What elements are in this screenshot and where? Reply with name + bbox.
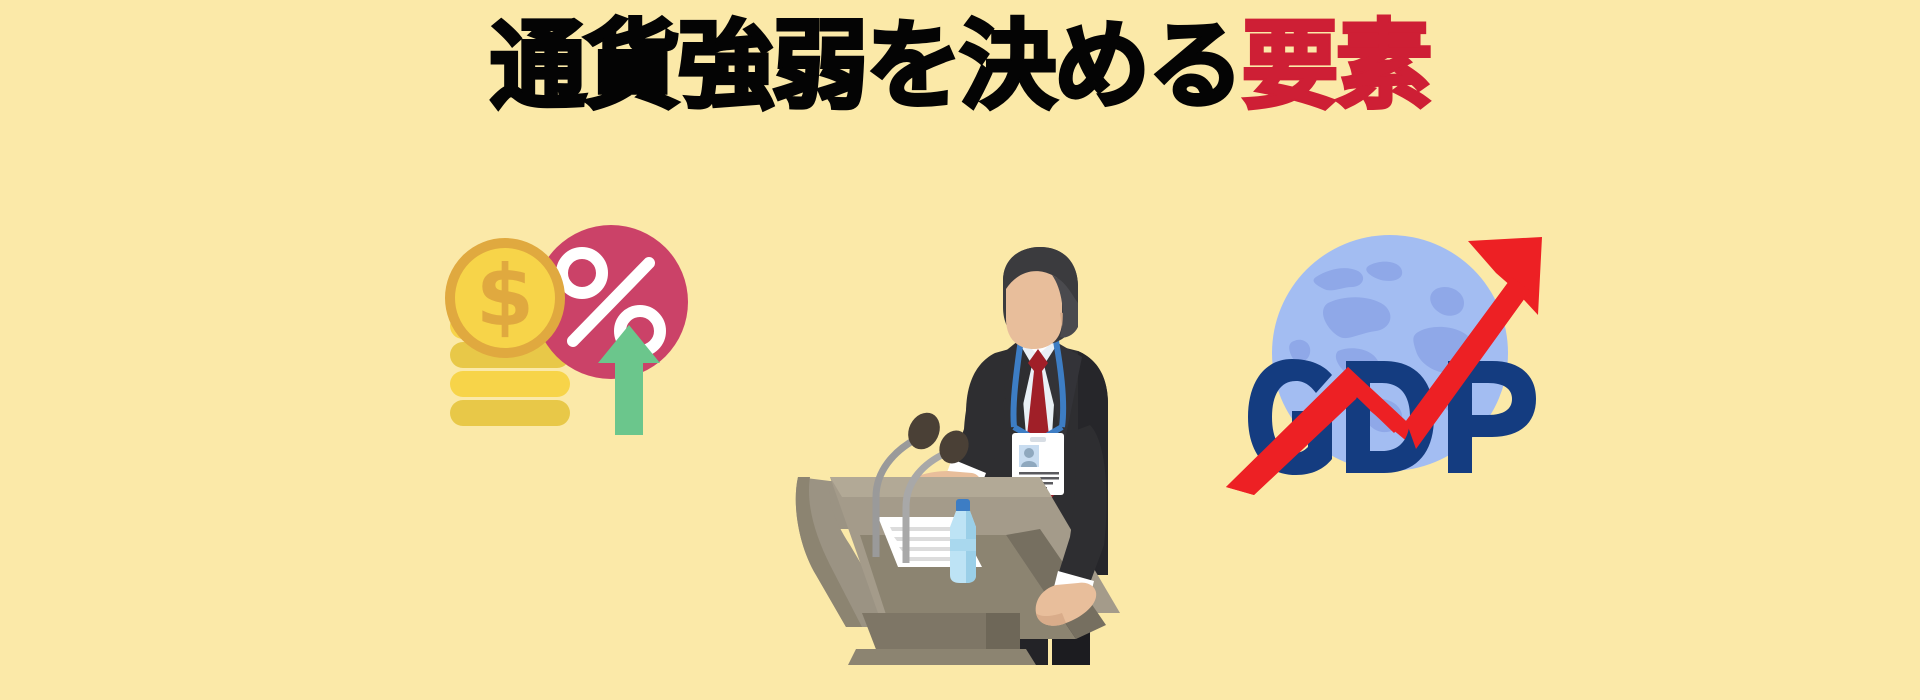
page-title-black-segment: 通貨強弱を決める (490, 10, 1242, 122)
coin-stack-bar (450, 400, 570, 426)
up-arrow-icon (598, 325, 660, 435)
page-title: 通貨強弱を決める要素 (0, 18, 1920, 114)
poster-canvas: 通貨強弱を決める要素 $ (0, 0, 1920, 700)
gdp-globe-growth-icon (1220, 225, 1560, 495)
speaker-at-podium-icon (790, 245, 1140, 665)
speaker-illustration (790, 245, 1140, 665)
coins-percent-interest-icon: $ (440, 205, 740, 505)
gdp-illustration (1220, 225, 1560, 495)
dollar-coin-icon: $ (445, 238, 565, 358)
speaker-head (1003, 247, 1078, 349)
page-title-red-segment: 要素 (1242, 10, 1430, 122)
dollar-symbol: $ (455, 248, 555, 348)
